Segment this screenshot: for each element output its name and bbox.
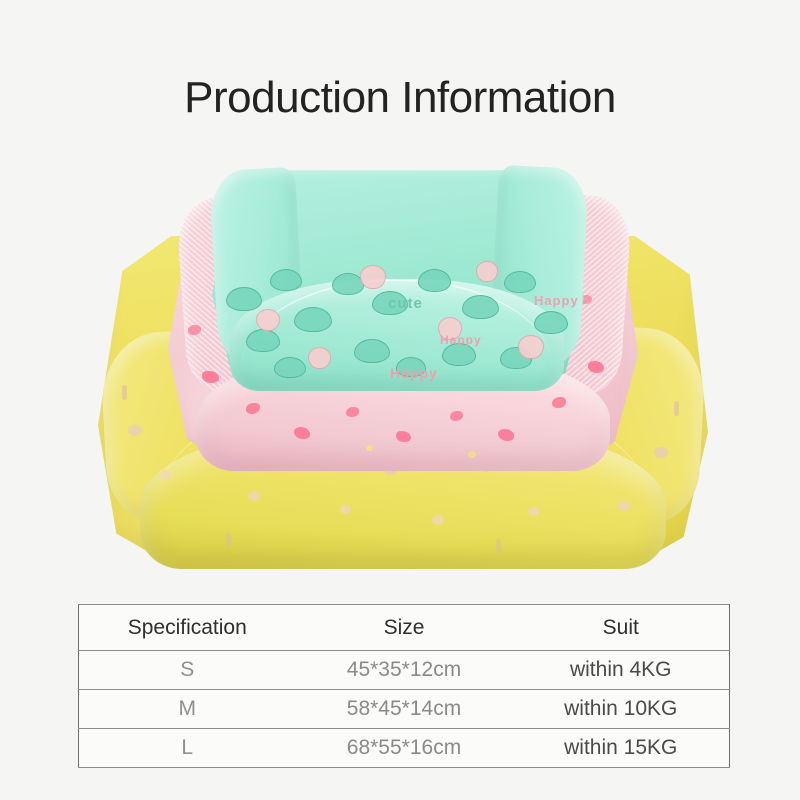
table-header-row: Specification Size Suit: [79, 605, 730, 651]
cell-suit: within 10KG: [513, 690, 730, 729]
column-header-suit: Suit: [513, 605, 730, 651]
table-header: Specification Size Suit: [79, 605, 730, 651]
cell-suit: within 15KG: [513, 729, 730, 768]
table-body: S 45*35*12cm within 4KG M 58*45*14cm wit…: [79, 651, 730, 768]
column-header-size: Size: [296, 605, 513, 651]
table-row: M 58*45*14cm within 10KG: [79, 690, 730, 729]
cell-specification: M: [79, 690, 296, 729]
product-image: cute Happy Happy Happy: [60, 155, 740, 585]
column-header-specification: Specification: [79, 605, 296, 651]
page-title: Production Information: [0, 73, 800, 123]
cell-suit: within 4KG: [513, 651, 730, 690]
specification-table: Specification Size Suit S 45*35*12cm wit…: [78, 604, 730, 768]
table-row: L 68*55*16cm within 15KG: [79, 729, 730, 768]
cell-size: 68*55*16cm: [296, 729, 513, 768]
cell-specification: L: [79, 729, 296, 768]
pet-bed-small-mint: cute Happy Happy Happy: [212, 161, 584, 391]
table-row: S 45*35*12cm within 4KG: [79, 651, 730, 690]
cell-size: 45*35*12cm: [296, 651, 513, 690]
cell-specification: S: [79, 651, 296, 690]
cell-size: 58*45*14cm: [296, 690, 513, 729]
